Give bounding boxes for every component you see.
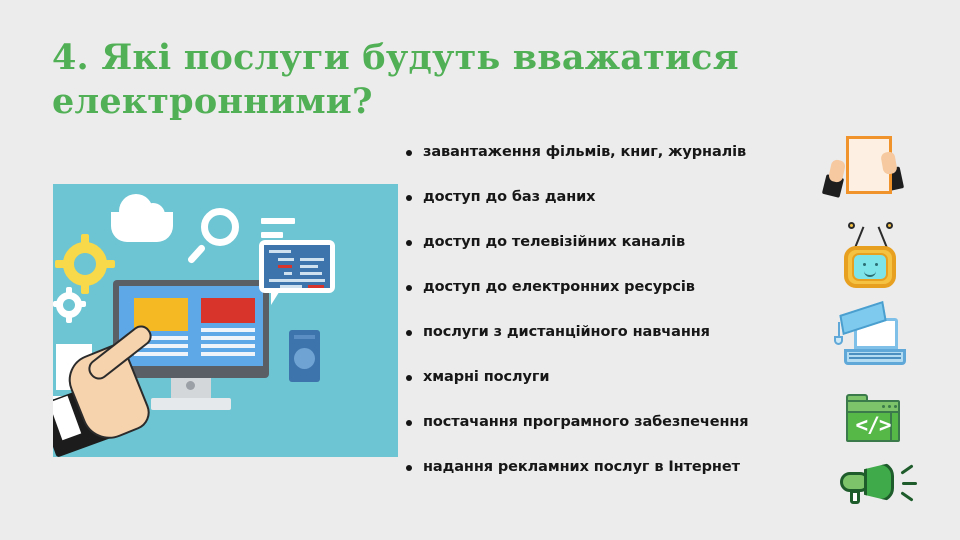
bullet-dot-icon [406,465,412,471]
bubble-line-red [278,265,292,268]
laptop-graduation-cap-icon [820,300,930,380]
slide: 4. Які послуги будуть вважатися електрон… [0,0,960,540]
list-item: хмарні послуги [406,367,806,412]
list-item-label: завантаження фільмів, книг, журналів [423,142,746,162]
megaphone-handle [850,490,860,504]
bullet-dot-icon [406,240,412,246]
search-icon-handle [187,243,207,264]
list-item-label: послуги з дистанційного навчання [423,322,710,342]
bullet-dot-icon [406,195,412,201]
monitor-base [151,398,231,410]
gear-tooth [66,314,72,323]
list-item-label: доступ до баз даних [423,187,595,207]
gear-tooth [77,301,86,307]
gear-tooth [53,301,62,307]
hand-right [880,151,898,175]
list-item: постачання програмного забезпечення [406,412,806,457]
e-services-illustration [53,184,398,457]
bubble-line [300,272,322,275]
list-item: доступ до телевізійних каналів [406,232,806,277]
text-line-decoration [261,218,295,224]
page-title: 4. Які послуги будуть вважатися електрон… [52,36,812,124]
list-item: доступ до баз даних [406,187,806,232]
list-item: доступ до електронних ресурсів [406,277,806,322]
sound-ray [900,464,913,474]
gear-tooth [81,234,89,246]
retro-tv-icon [820,218,930,300]
bullet-dot-icon [406,285,412,291]
services-list: завантаження фільмів, книг, журналів дос… [406,142,806,502]
monitor-dot [186,381,195,390]
megaphone-horn [864,462,894,502]
sound-ray [900,491,913,501]
bullet-dot-icon [406,330,412,336]
window-dot [882,405,885,408]
bubble-line [280,285,302,288]
content-block-red [201,298,255,323]
list-item-label: хмарні послуги [423,367,549,387]
cap-tassel-end [834,336,843,345]
window-dot [888,405,891,408]
phone-speaker [294,335,315,339]
gear-icon-yellow [63,242,107,286]
text-line-decoration [261,232,283,238]
bubble-line [284,272,292,275]
screen-text-line [134,352,188,356]
screen-text-line [201,344,255,348]
bubble-line-red [308,285,324,288]
list-item-label: доступ до електронних ресурсів [423,277,695,297]
list-item-label: постачання програмного забезпечення [423,412,749,432]
tv-antenna-knob [848,222,855,229]
megaphone-icon [820,450,930,516]
tv-antenna-knob [886,222,893,229]
gear-tooth [66,287,72,296]
gear-tooth [103,260,115,268]
bubble-line [300,265,318,268]
chat-bubble-screen [264,245,330,288]
bubble-line [269,279,325,282]
gear-tooth [81,282,89,294]
code-folder-icon: </> [820,380,930,450]
hands-holding-document-icon [820,130,930,218]
code-glyph: </> [846,410,900,440]
tv-face-eye [863,263,866,266]
tv-face-eye [875,263,878,266]
smartphone-icon [289,330,320,382]
bubble-line [300,258,324,261]
keyboard-row [849,353,901,355]
screen-text-line [201,352,255,356]
cloud-icon [111,212,173,242]
phone-display [294,348,315,369]
search-icon [201,208,239,246]
list-item: завантаження фільмів, книг, журналів [406,142,806,187]
bubble-line [278,258,294,261]
list-item-label: доступ до телевізійних каналів [423,232,685,252]
bubble-line [269,250,291,253]
sound-ray [902,482,917,485]
window-dot [894,405,897,408]
bullet-dot-icon [406,420,412,426]
chat-bubble-window [259,240,335,293]
keyboard-row [849,357,901,359]
list-item: надання рекламних послуг в Інтернет [406,457,806,502]
screen-text-line [201,328,255,332]
gear-tooth [55,260,67,268]
bullet-dot-icon [406,150,412,156]
bullet-dot-icon [406,375,412,381]
icon-column: </> [820,130,940,516]
list-item: послуги з дистанційного навчання [406,322,806,367]
list-item-label: надання рекламних послуг в Інтернет [423,457,740,477]
screen-text-line [201,336,255,340]
